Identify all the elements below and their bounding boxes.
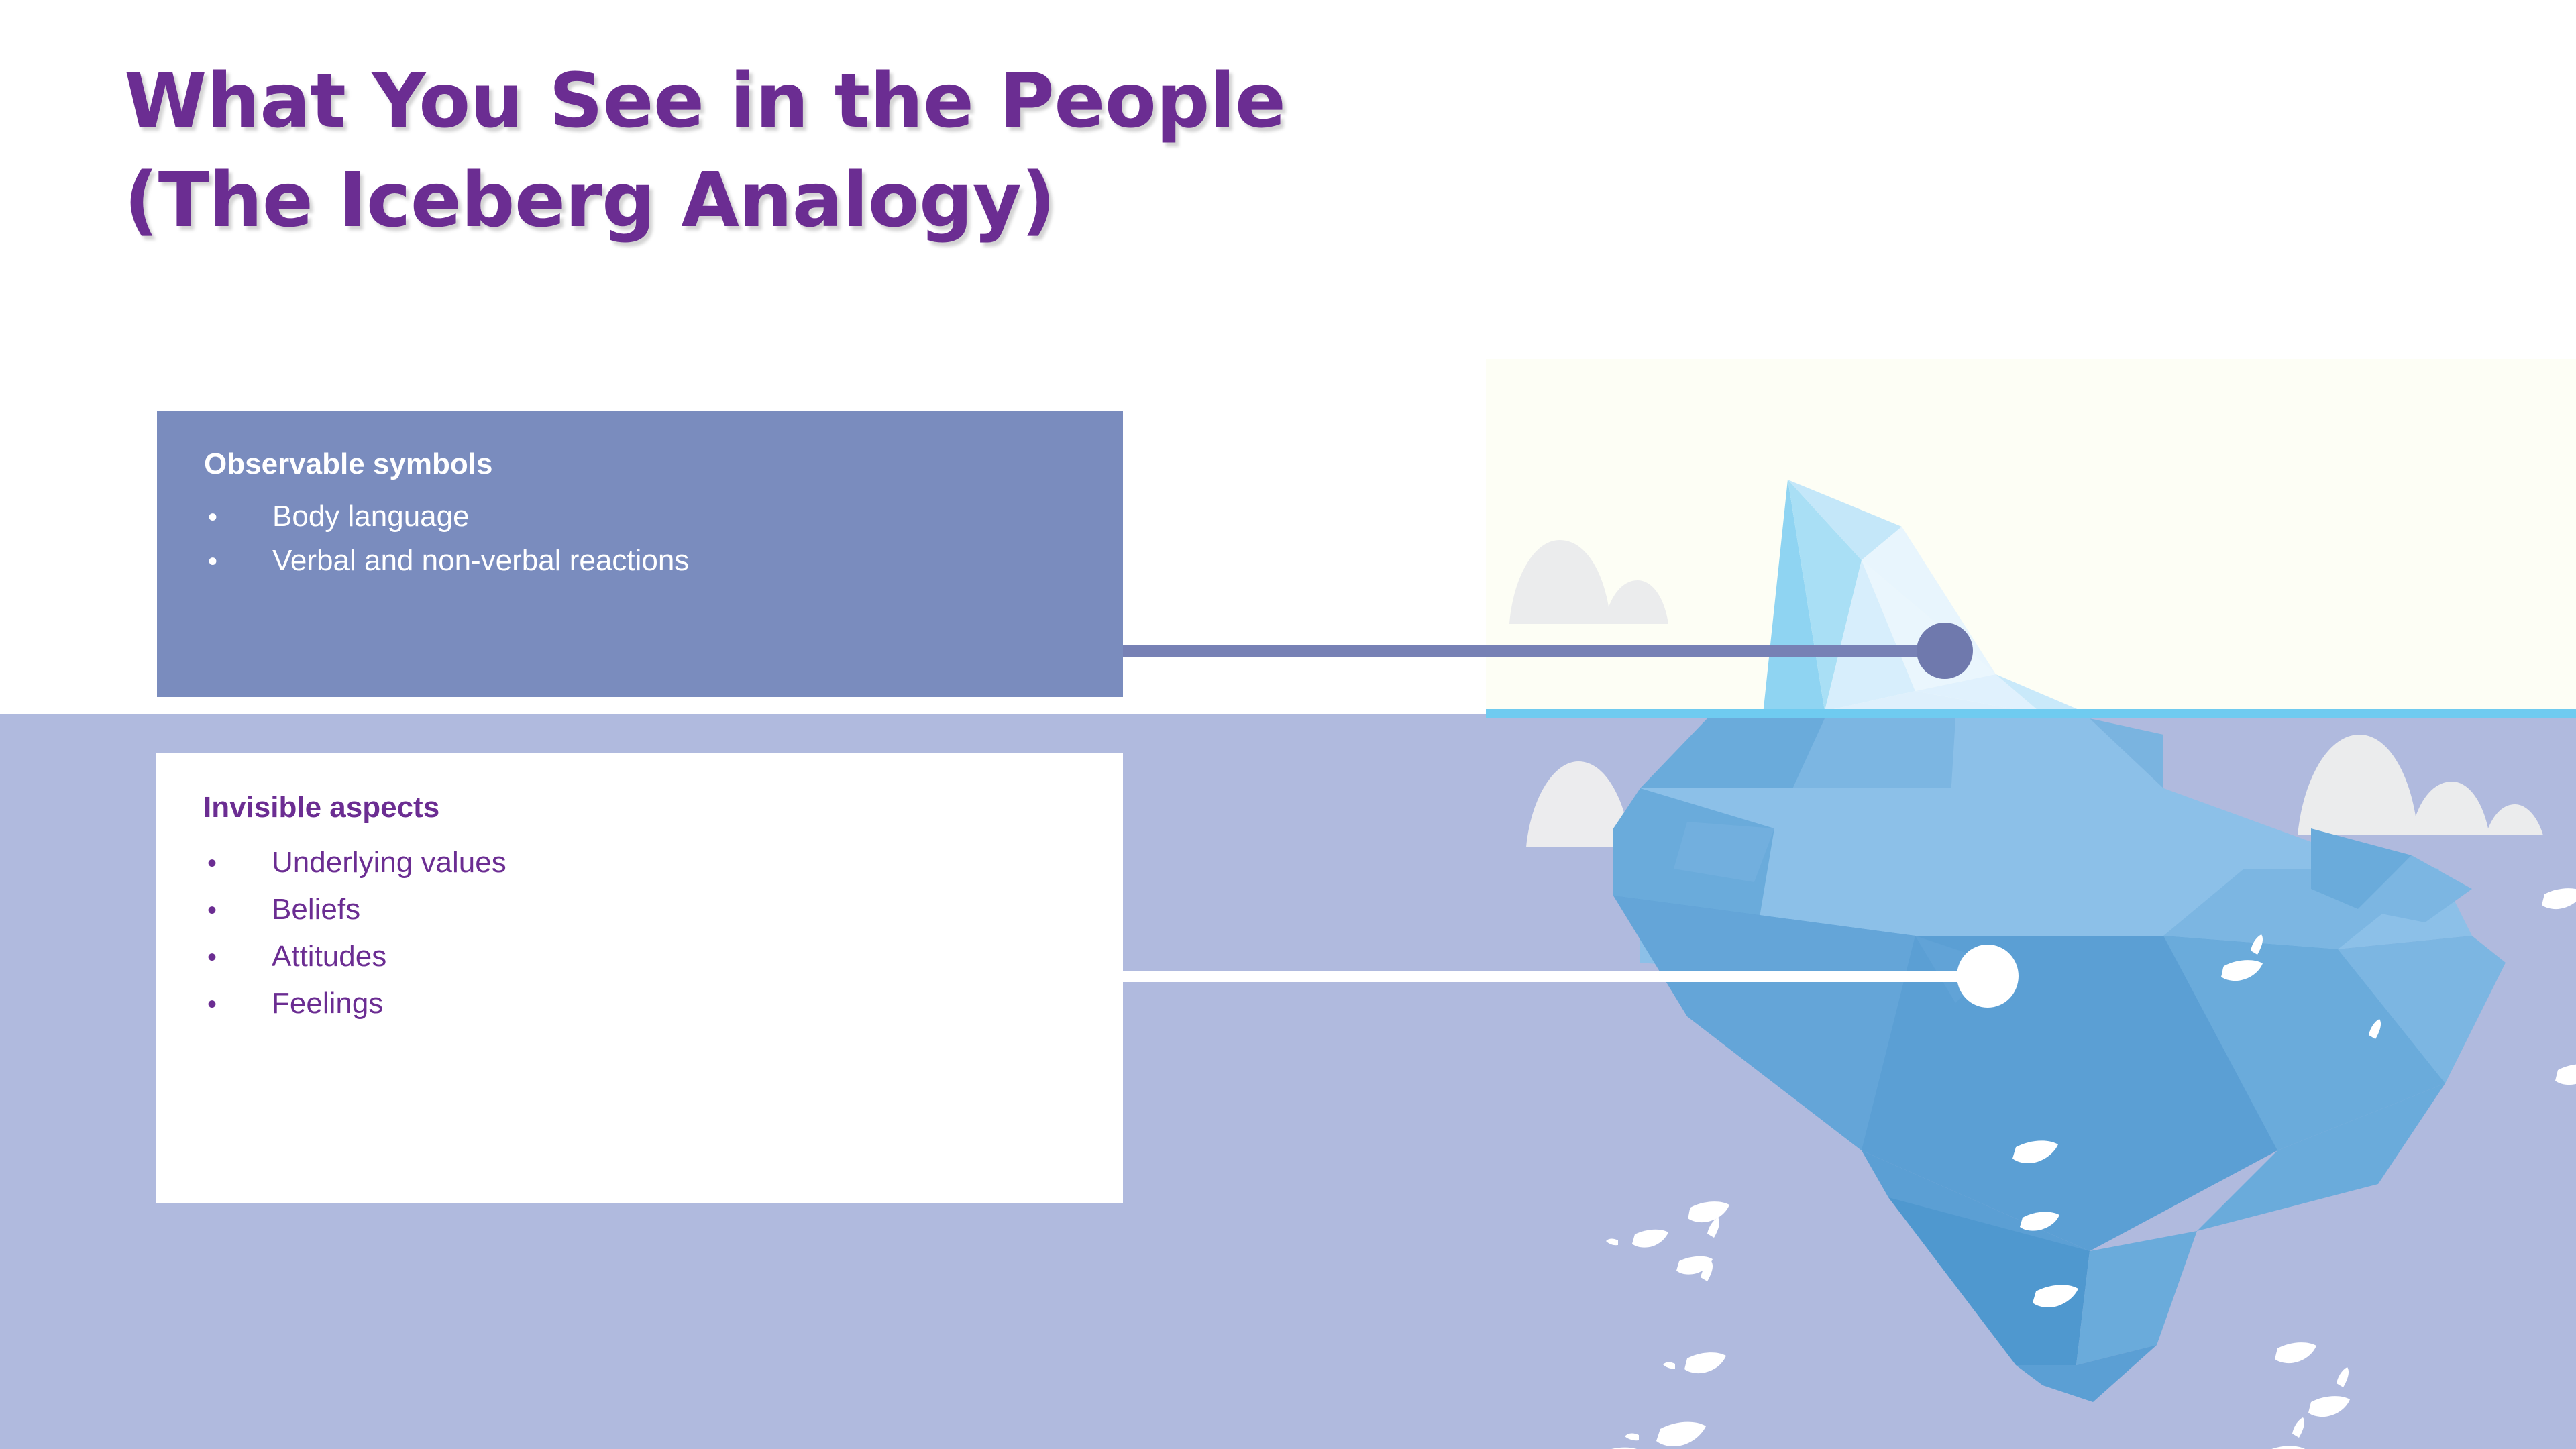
iceberg-scene-svg — [1486, 359, 2576, 1449]
connector-dot-observable — [1917, 623, 1973, 679]
list-item-label: Beliefs — [272, 895, 1076, 924]
fish-icon — [2337, 1367, 2349, 1387]
connector-line-invisible — [1114, 971, 1999, 982]
fish-icon — [1663, 1362, 1675, 1368]
card-invisible-bullet-list: • Underlying values • Beliefs • Attitude… — [203, 830, 1076, 1018]
connector-dot-invisible — [1957, 945, 2019, 1008]
bullet-icon: • — [204, 504, 272, 531]
fish-icon — [2261, 1446, 2306, 1449]
card-invisible-aspects: Invisible aspects • Underlying values • … — [156, 753, 1123, 1203]
bullet-icon: • — [204, 548, 272, 575]
cloud-icon — [2298, 735, 2543, 835]
fish-icon — [1632, 1230, 1668, 1248]
connector-line-observable — [1114, 645, 1959, 657]
fish-icon — [1625, 1434, 1639, 1441]
list-item-label: Feelings — [272, 989, 1076, 1018]
list-item-label: Underlying values — [272, 848, 1076, 877]
iceberg-above-water — [1741, 480, 2090, 714]
fish-icon — [2555, 1064, 2576, 1085]
fish-icon — [1684, 1352, 1726, 1373]
iceberg-illustration — [1486, 359, 2576, 1449]
cloud-group-right — [2298, 735, 2543, 835]
list-item: • Feelings — [203, 971, 1076, 1018]
bullet-icon: • — [203, 944, 272, 971]
fish-icon — [1606, 1238, 1618, 1245]
card-observable-heading: Observable symbols — [204, 448, 1076, 480]
fish-icon — [2275, 1342, 2316, 1363]
list-item: • Verbal and non-verbal reactions — [204, 531, 1076, 576]
page-title: What You See in the People (The Iceberg … — [124, 52, 1734, 251]
fish-icon — [2308, 1396, 2350, 1417]
bullet-icon: • — [203, 991, 272, 1018]
card-invisible-heading: Invisible aspects — [203, 792, 1076, 824]
list-item-label: Attitudes — [272, 942, 1076, 971]
list-item-label: Body language — [272, 502, 1076, 531]
bullet-icon: • — [203, 850, 272, 877]
list-item: • Beliefs — [203, 877, 1076, 924]
card-observable-symbols: Observable symbols • Body language • Ver… — [157, 411, 1123, 697]
list-item: • Body language — [204, 487, 1076, 531]
list-item-label: Verbal and non-verbal reactions — [272, 546, 1076, 576]
waterline — [1486, 709, 2576, 718]
cloud-icon — [1509, 540, 1668, 624]
fish-icon — [1688, 1201, 1729, 1222]
card-observable-bullet-list: • Body language • Verbal and non-verbal … — [204, 487, 1076, 576]
list-item: • Attitudes — [203, 924, 1076, 971]
list-item: • Underlying values — [203, 830, 1076, 877]
slide-canvas: What You See in the People (The Iceberg … — [0, 0, 2576, 1449]
fish-icon — [2542, 888, 2576, 909]
fish-icon — [1656, 1422, 1706, 1446]
cloud-group-left — [1509, 540, 1668, 624]
fish-icon — [2292, 1417, 2304, 1438]
bullet-icon: • — [203, 897, 272, 924]
